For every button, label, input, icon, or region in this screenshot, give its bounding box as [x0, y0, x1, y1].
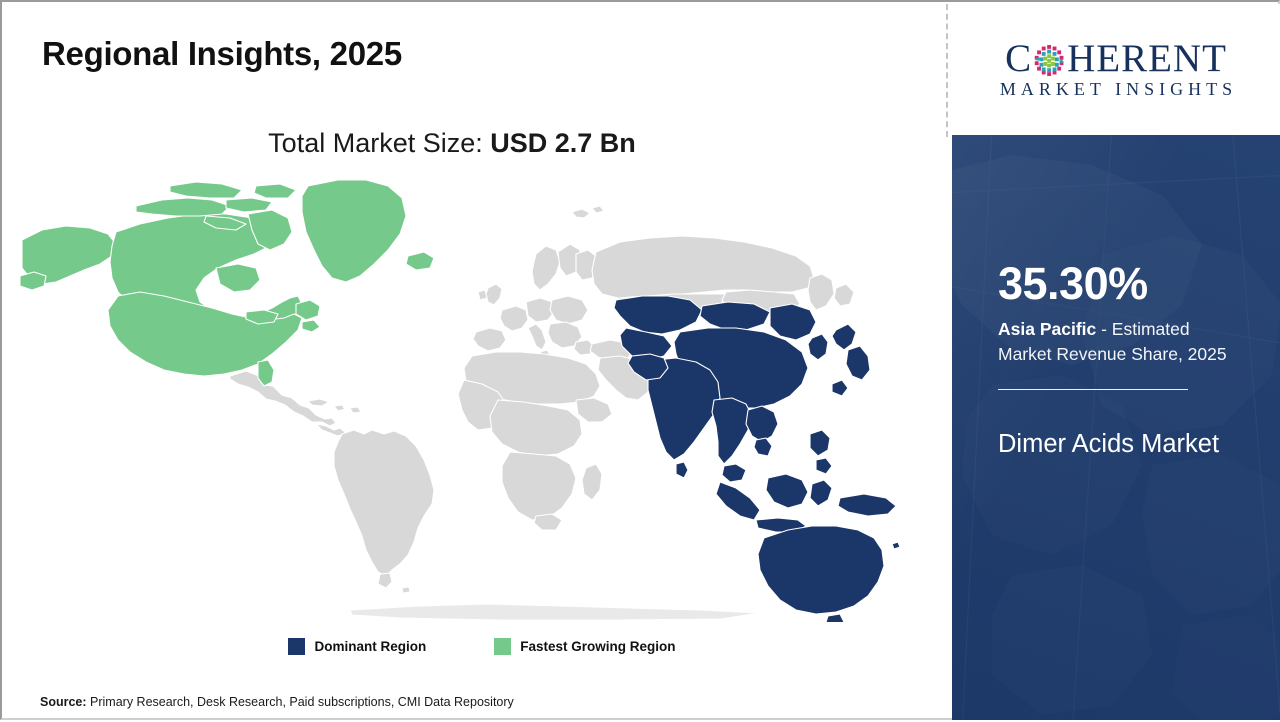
logo-wordmark: C — [1005, 39, 1227, 78]
legend-item-fastest-growing: Fastest Growing Region — [494, 638, 675, 655]
logo-word-post: HERENT — [1067, 39, 1227, 78]
legend-item-dominant: Dominant Region — [288, 638, 426, 655]
stat-divider-rule — [998, 389, 1188, 390]
brand-logo: C — [952, 4, 1280, 135]
stat-content: 35.30% Asia Pacific - Estimated Market R… — [952, 261, 1280, 464]
left-content-pane: Regional Insights, 2025 Total Market Siz… — [2, 2, 947, 722]
total-market-size: Total Market Size: USD 2.7 Bn — [2, 128, 902, 159]
stat-description: Asia Pacific - Estimated Market Revenue … — [998, 317, 1234, 367]
vertical-dashed-divider — [946, 4, 948, 137]
globe-dots-icon — [1034, 44, 1065, 75]
market-size-value: USD 2.7 Bn — [490, 128, 636, 158]
fastest-growing-region-swatch — [494, 638, 511, 655]
logo-subtitle: MARKET INSIGHTS — [995, 79, 1237, 100]
logo-word-pre: C — [1005, 39, 1032, 78]
stat-value: 35.30% — [998, 261, 1234, 306]
legend-label-dominant: Dominant Region — [314, 639, 426, 654]
page-title: Regional Insights, 2025 — [42, 35, 402, 73]
map-region-dominant — [614, 296, 900, 622]
market-name: Dimer Acids Market — [998, 426, 1234, 464]
stat-panel: 35.30% Asia Pacific - Estimated Market R… — [952, 135, 1280, 720]
slide-canvas: Regional Insights, 2025 Total Market Siz… — [0, 0, 1280, 720]
legend-label-fastest-growing: Fastest Growing Region — [520, 639, 675, 654]
market-size-label: Total Market Size: — [268, 128, 483, 158]
world-map-svg — [20, 172, 900, 622]
world-map — [20, 172, 900, 622]
stat-region-name: Asia Pacific — [998, 319, 1096, 339]
source-text: Primary Research, Desk Research, Paid su… — [87, 695, 514, 709]
map-legend: Dominant Region Fastest Growing Region — [2, 638, 962, 655]
map-region-fastest-growing — [20, 180, 434, 386]
source-note: Source: Primary Research, Desk Research,… — [40, 695, 514, 709]
source-label: Source: — [40, 695, 87, 709]
dominant-region-swatch — [288, 638, 305, 655]
